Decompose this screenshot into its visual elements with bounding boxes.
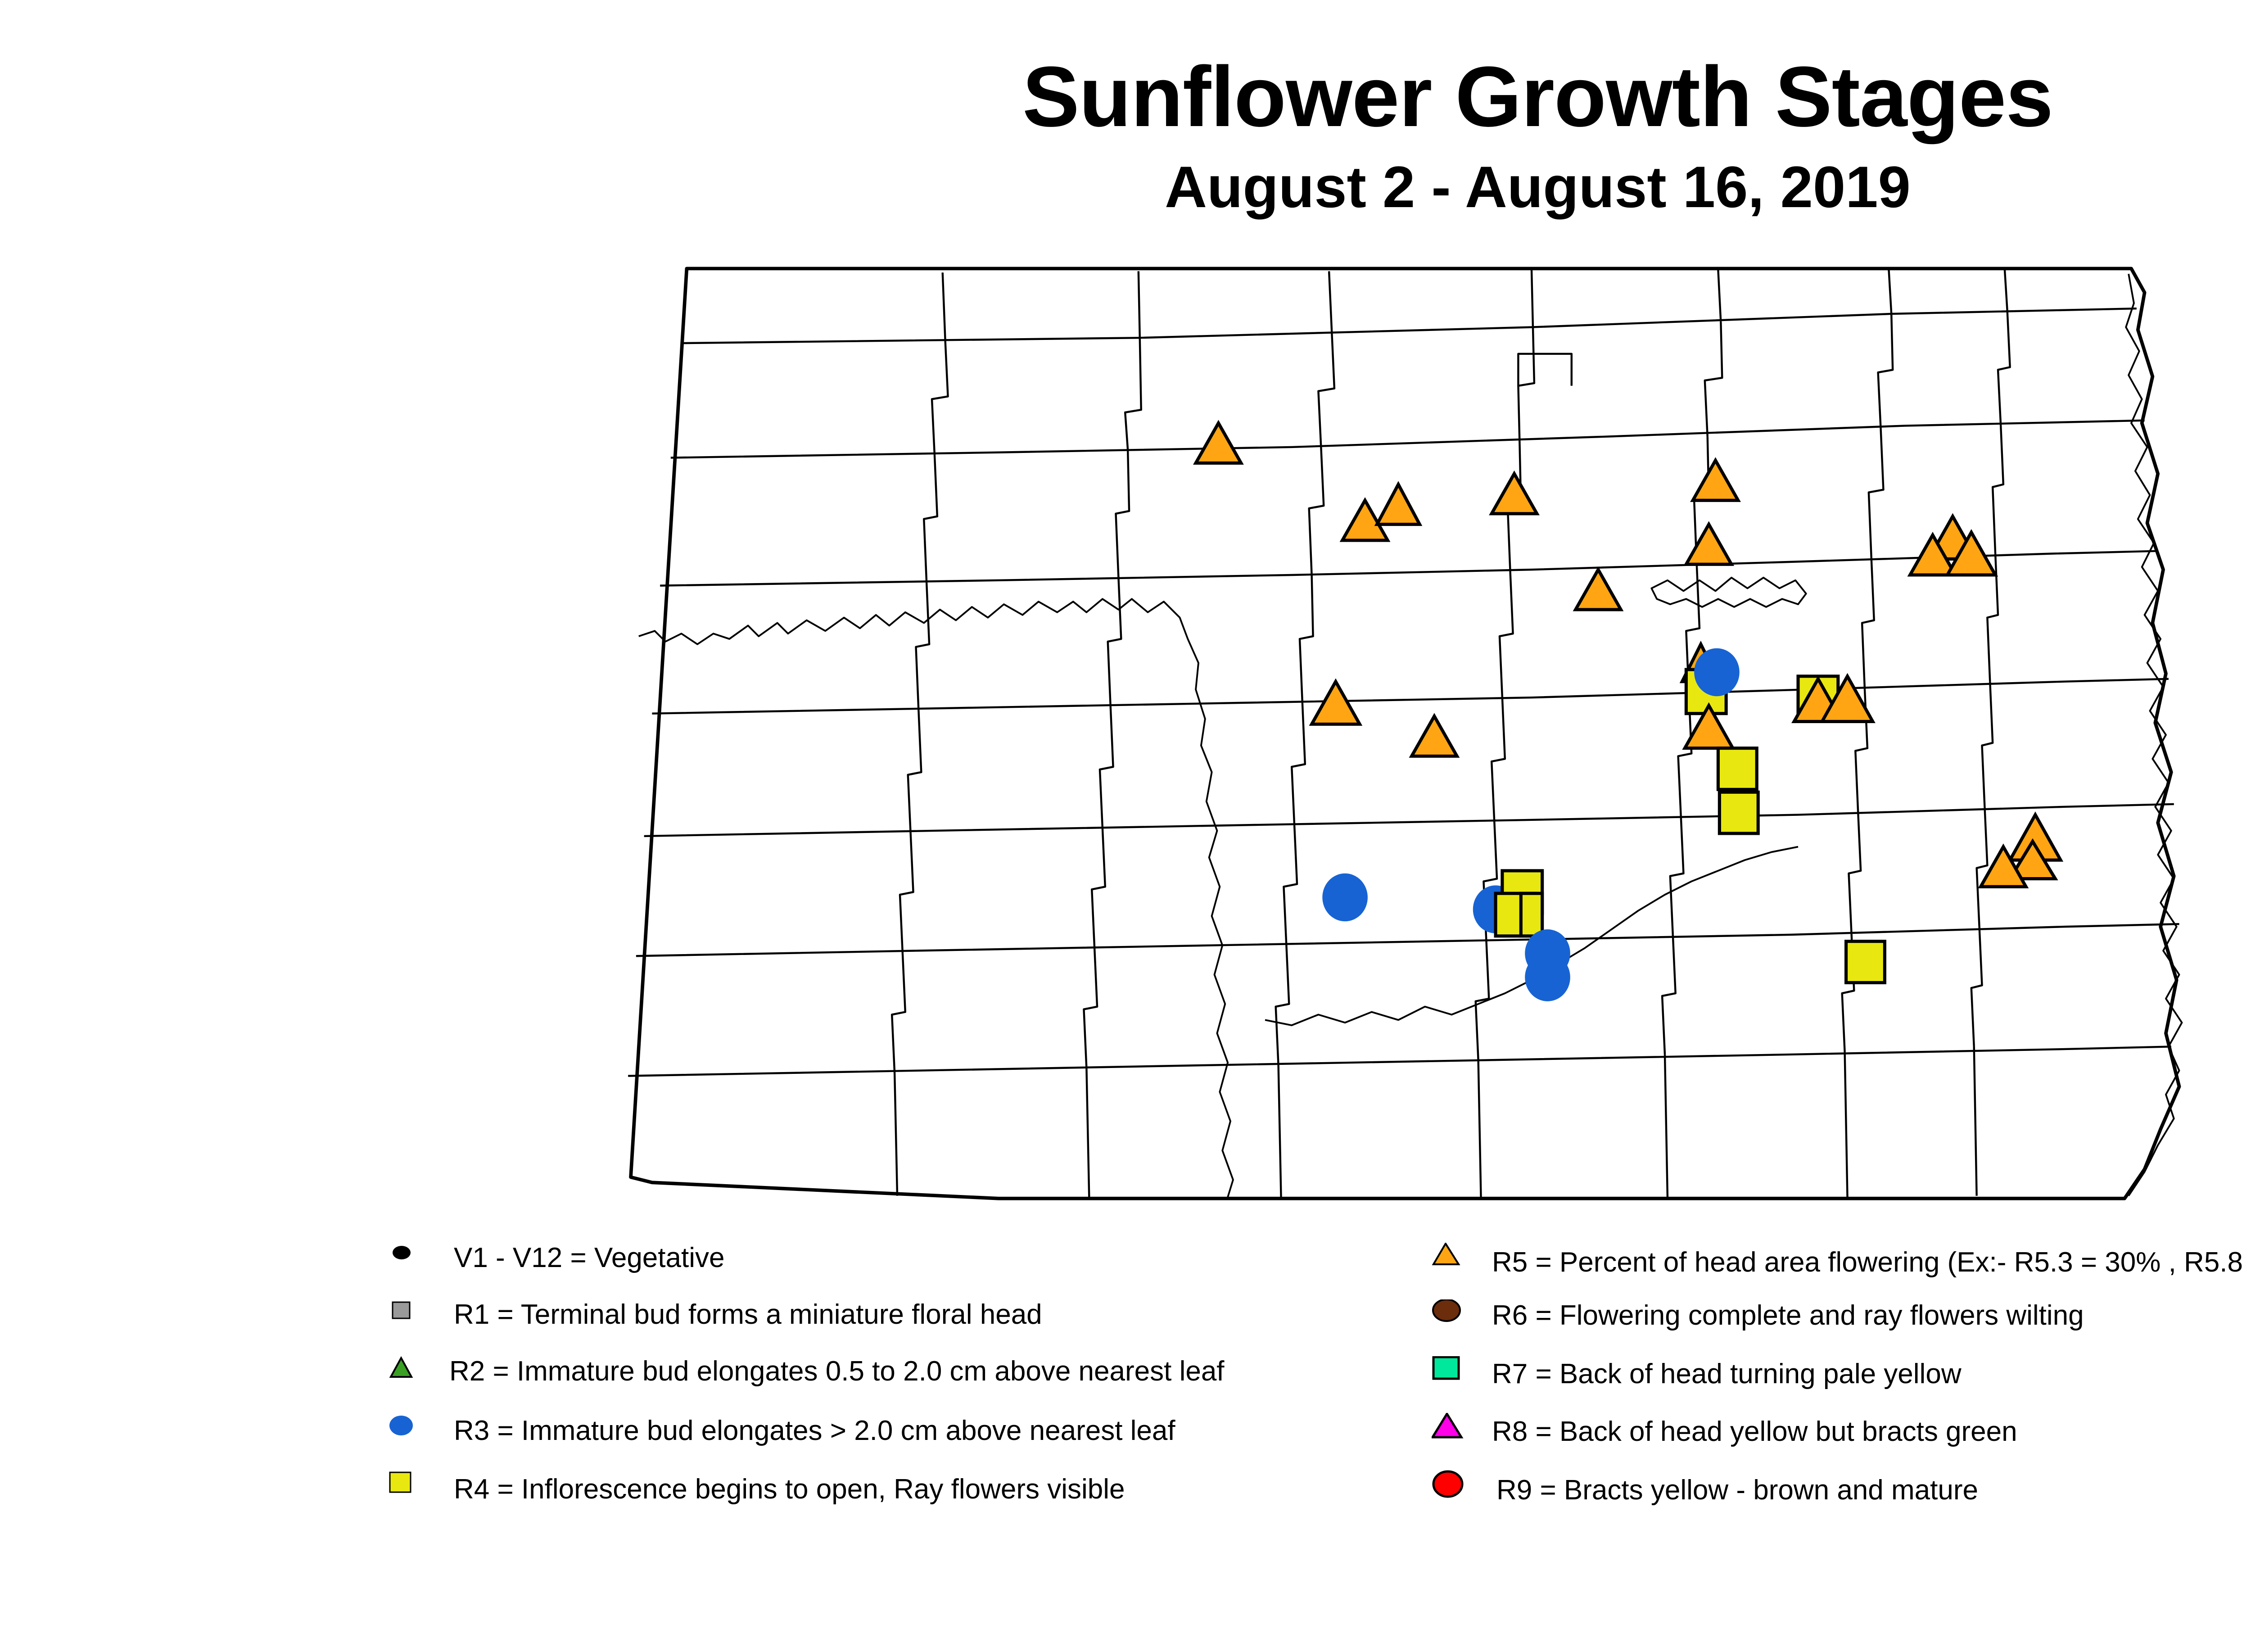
- north-dakota-county-map: [599, 250, 2251, 1222]
- legend-item-r3[interactable]: R3 = Immature bud elongates > 2.0 cm abo…: [387, 1413, 1468, 1470]
- county-line-v-r1-b: [1139, 271, 1140, 338]
- state-outline: [631, 268, 2179, 1198]
- legend-label-r6: R6 = Flowering complete and ray flowers …: [1492, 1299, 2084, 1331]
- legend-label-v: V1 - V12 = Vegetative: [454, 1242, 724, 1274]
- legend-column-left: V1 - V12 = Vegetative R1 = Terminal bud …: [387, 1243, 1468, 1526]
- marker-r3[interactable]: [1694, 648, 1740, 697]
- county-line-v-r1-d: [1532, 270, 1533, 327]
- r3-circle-icon: [387, 1413, 441, 1470]
- legend-label-r9: R9 = Bracts yellow - brown and mature: [1496, 1474, 1978, 1506]
- legend-label-r1: R1 = Terminal bud forms a miniature flor…: [454, 1299, 1042, 1331]
- marker-r3[interactable]: [1322, 874, 1368, 922]
- r8-triangle-icon: [1432, 1413, 1486, 1470]
- r9-circle-icon: [1432, 1470, 1486, 1526]
- page-title: Sunflower Growth Stages: [0, 54, 2251, 140]
- page-subtitle: August 2 - August 16, 2019: [0, 158, 2251, 216]
- r6-circle-icon: [1432, 1299, 1486, 1356]
- vegetative-circle-icon: [387, 1243, 441, 1299]
- legend-item-r7[interactable]: R7 = Back of head turning pale yellow: [1432, 1356, 2251, 1413]
- legend-label-r7: R7 = Back of head turning pale yellow: [1492, 1358, 1962, 1390]
- legend-item-v[interactable]: V1 - V12 = Vegetative: [387, 1243, 1468, 1299]
- map-svg: [599, 250, 2251, 1222]
- marker-r4[interactable]: [1521, 893, 1542, 936]
- r1-square-icon: [387, 1299, 441, 1356]
- marker-r3[interactable]: [1525, 953, 1570, 1001]
- legend-label-r3: R3 = Immature bud elongates > 2.0 cm abo…: [454, 1415, 1175, 1447]
- legend-item-r6[interactable]: R6 = Flowering complete and ray flowers …: [1432, 1299, 2251, 1356]
- marker-r4[interactable]: [1846, 941, 1885, 983]
- marker-r4[interactable]: [1719, 792, 1758, 833]
- title-block: Sunflower Growth Stages August 2 - Augus…: [0, 54, 2251, 216]
- legend-label-r4: R4 = Inflorescence begins to open, Ray f…: [454, 1473, 1125, 1505]
- legend-item-r4[interactable]: R4 = Inflorescence begins to open, Ray f…: [387, 1470, 1468, 1526]
- legend-item-r8[interactable]: R8 = Back of head yellow but bracts gree…: [1432, 1413, 2251, 1470]
- legend: V1 - V12 = Vegetative R1 = Terminal bud …: [0, 1243, 2251, 1603]
- legend-item-r1[interactable]: R1 = Terminal bud forms a miniature flor…: [387, 1299, 1468, 1356]
- legend-label-r8: R8 = Back of head yellow but bracts gree…: [1492, 1416, 2017, 1448]
- marker-r4[interactable]: [1718, 748, 1757, 790]
- map-counties: [628, 268, 2182, 1198]
- legend-item-r5[interactable]: R5 = Percent of head area flowering (Ex:…: [1432, 1243, 2251, 1299]
- r5-triangle-icon: [1432, 1243, 1486, 1299]
- legend-item-r2[interactable]: R2 = Immature bud elongates 0.5 to 2.0 c…: [387, 1356, 1468, 1413]
- legend-item-r9[interactable]: R9 = Bracts yellow - brown and mature: [1432, 1470, 2251, 1526]
- r4-square-icon: [387, 1470, 441, 1526]
- legend-label-r2: R2 = Immature bud elongates 0.5 to 2.0 c…: [449, 1355, 1225, 1387]
- r2-triangle-icon: [387, 1356, 441, 1413]
- legend-label-r5: R5 = Percent of head area flowering (Ex:…: [1492, 1246, 2251, 1278]
- legend-column-right: R5 = Percent of head area flowering (Ex:…: [1432, 1243, 2251, 1526]
- r7-square-icon: [1432, 1356, 1486, 1413]
